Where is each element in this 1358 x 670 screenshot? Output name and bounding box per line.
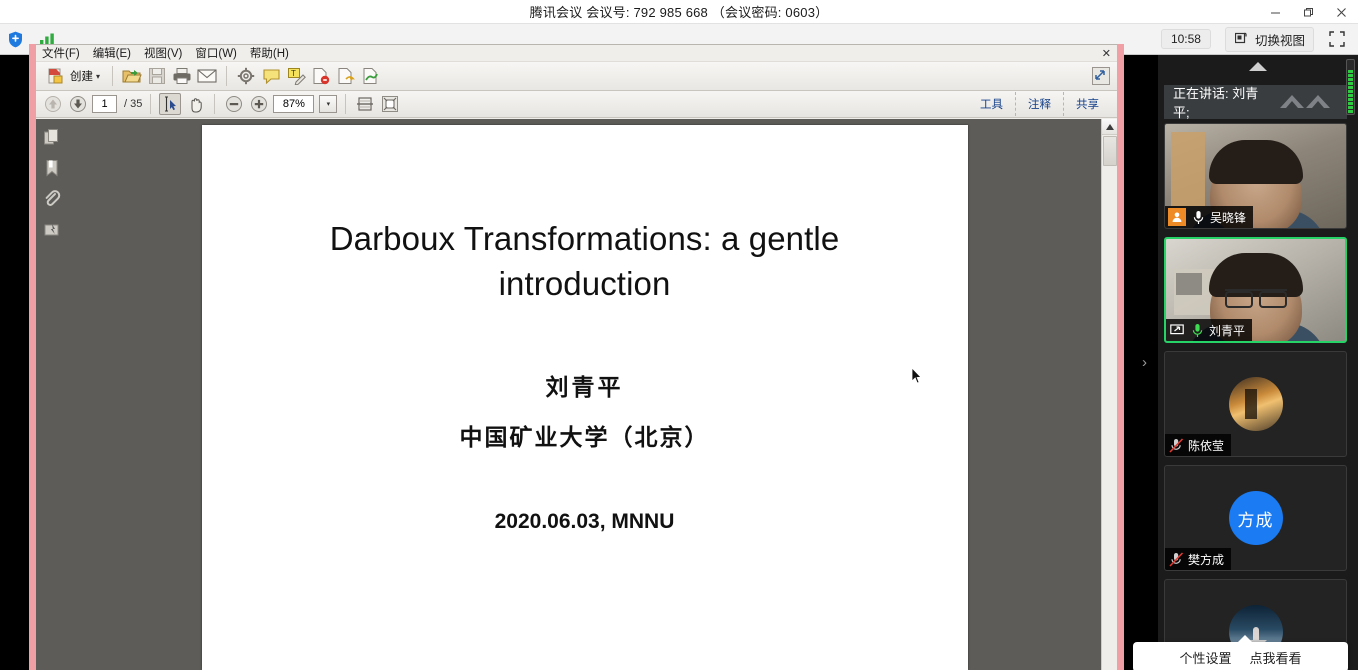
email-icon[interactable] (196, 65, 218, 87)
chevron-down-icon: ▾ (327, 100, 331, 108)
tab-tools[interactable]: 工具 (968, 92, 1015, 116)
active-speaker-label: 正在讲话: 刘青平; (1173, 85, 1270, 119)
select-text-icon[interactable] (159, 93, 181, 115)
toolbar-separator (112, 66, 113, 86)
svg-text:T: T (291, 69, 296, 78)
reader-toolbar-main: 创建 ▾ (36, 62, 1117, 91)
active-speaker-banner: 正在讲话: 刘青平; (1164, 85, 1347, 119)
screen-root: 腾讯会议 会议号: 792 985 668 （会议密码: 0603） (0, 0, 1358, 670)
highlight-text-icon[interactable]: T (285, 65, 307, 87)
scroll-up-icon[interactable] (1102, 119, 1117, 135)
switch-view-label: 切换视图 (1255, 30, 1305, 49)
window-controls (1259, 0, 1358, 24)
sign-document-icon[interactable] (360, 65, 382, 87)
toolbar-separator (150, 94, 151, 114)
comment-bubble-icon[interactable] (260, 65, 282, 87)
participant-tile[interactable]: 刘青平 (1164, 237, 1347, 343)
participants-panel: › 正在讲话: 刘青平; (1158, 55, 1358, 670)
video-background (1171, 132, 1205, 206)
slide-author: 刘青平 (202, 368, 968, 402)
mic-on-icon (1190, 209, 1206, 225)
delete-page-icon[interactable] (310, 65, 332, 87)
slide-title: Darboux Transformations: a gentle introd… (202, 217, 968, 306)
meeting-clock: 10:58 (1161, 29, 1211, 49)
arrow-up-page-icon[interactable] (42, 93, 64, 115)
layout-switch-icon (1234, 31, 1250, 47)
scrollbar-thumb[interactable] (1103, 136, 1117, 166)
menu-view[interactable]: 视图(V) (144, 45, 182, 61)
reader-menubar: 文件(F) 编辑(E) 视图(V) 窗口(W) 帮助(H) ✕ (36, 45, 1117, 62)
participant-name: 刘青平 (1209, 322, 1245, 339)
chevron-right-icon: › (1142, 354, 1147, 371)
create-pdf-icon (45, 65, 67, 87)
shield-icon[interactable] (2, 27, 28, 51)
page-thumbnails-icon[interactable] (41, 126, 63, 148)
toolbar-separator (214, 94, 215, 114)
close-button[interactable] (1325, 0, 1358, 24)
panel-collapse-button[interactable]: › (1131, 55, 1158, 670)
mic-off-icon (1168, 551, 1184, 567)
fit-width-icon[interactable] (354, 93, 376, 115)
participant-tile[interactable]: 方成 樊方成 (1164, 465, 1347, 571)
video-background-object (1176, 273, 1202, 295)
switch-view-button[interactable]: 切换视图 (1225, 27, 1314, 52)
participant-nameplate: 樊方成 (1165, 548, 1231, 570)
tooltip-title: 个性设置 (1179, 648, 1231, 667)
personalization-tooltip[interactable]: 个性设置 点我看看 (1133, 642, 1348, 670)
mic-off-icon (1168, 437, 1184, 453)
tab-share[interactable]: 共享 (1063, 92, 1111, 116)
screen-share-icon (1169, 322, 1185, 338)
meeting-title: 腾讯会议 会议号: 792 985 668 （会议密码: 0603） (530, 2, 829, 21)
hand-pan-icon[interactable] (184, 93, 206, 115)
signatures-icon[interactable] (41, 219, 63, 241)
pdf-vertical-scrollbar[interactable] (1101, 119, 1117, 670)
host-badge-icon (1168, 208, 1186, 226)
menu-help[interactable]: 帮助(H) (250, 45, 289, 61)
avatar-initials: 方成 (1229, 491, 1283, 545)
zoom-out-icon[interactable] (223, 93, 245, 115)
participant-tile[interactable]: 陈依莹 (1164, 351, 1347, 457)
chevron-down-icon: ▾ (96, 72, 100, 81)
meeting-titlebar: 腾讯会议 会议号: 792 985 668 （会议密码: 0603） (0, 0, 1358, 24)
minimize-button[interactable] (1259, 0, 1292, 24)
toolbar-separator (226, 66, 227, 86)
bookmarks-icon[interactable] (41, 157, 63, 179)
toolbar-separator (345, 94, 346, 114)
attachments-icon[interactable] (41, 188, 63, 210)
reader-toolbar-navigation: / 35 (36, 91, 1117, 118)
screen-share-frame-left (29, 44, 36, 670)
participant-tiles: 吴晓锋 (1158, 77, 1358, 662)
open-folder-icon[interactable] (121, 65, 143, 87)
page-total-label: / 35 (124, 98, 142, 110)
zoom-level-input[interactable] (273, 95, 314, 113)
page-number-input[interactable] (92, 95, 117, 113)
participant-nameplate: 刘青平 (1166, 319, 1252, 341)
pdf-page: Darboux Transformations: a gentle introd… (202, 125, 968, 670)
slide-date: 2020.06.03, MNNU (202, 510, 968, 534)
tooltip-action[interactable]: 点我看看 (1250, 648, 1302, 667)
create-pdf-button[interactable]: 创建 ▾ (41, 64, 104, 88)
tencent-meeting-logo-icon (1276, 90, 1338, 114)
create-pdf-label: 创建 (70, 68, 93, 84)
menu-edit[interactable]: 编辑(E) (93, 45, 131, 61)
expand-window-icon[interactable] (1090, 65, 1112, 87)
participant-name: 樊方成 (1188, 551, 1224, 568)
participant-nameplate: 陈依莹 (1165, 434, 1231, 456)
video-hair (1209, 140, 1303, 184)
fullscreen-icon[interactable] (1328, 30, 1346, 48)
avatar (1229, 377, 1283, 431)
audio-level-meter (1346, 59, 1355, 115)
participant-name: 吴晓锋 (1210, 209, 1246, 226)
reader-right-tabs: 工具 注释 共享 (968, 91, 1111, 118)
menu-file[interactable]: 文件(F) (42, 45, 80, 61)
restore-button[interactable] (1292, 0, 1325, 24)
document-close-icon[interactable]: ✕ (1102, 47, 1111, 60)
export-page-icon[interactable] (335, 65, 357, 87)
reader-navigation-rail (36, 119, 68, 670)
mic-on-icon (1189, 322, 1205, 338)
save-icon[interactable] (146, 65, 168, 87)
tab-comment[interactable]: 注释 (1015, 92, 1063, 116)
participant-name: 陈依莹 (1188, 437, 1224, 454)
slide-affiliation: 中国矿业大学（北京） (202, 418, 968, 452)
meeting-toolbar-right: 10:58 切换视图 (1161, 27, 1358, 52)
participants-scroll-up[interactable] (1158, 55, 1358, 77)
participant-nameplate: 吴晓锋 (1165, 206, 1253, 228)
mouse-cursor (911, 367, 923, 385)
triangle-up-icon (1249, 62, 1267, 71)
pdf-reader-window: 文件(F) 编辑(E) 视图(V) 窗口(W) 帮助(H) ✕ 创建 ▾ (36, 44, 1117, 670)
arrow-down-page-icon[interactable] (67, 93, 89, 115)
fit-page-icon[interactable] (379, 93, 401, 115)
menu-window[interactable]: 窗口(W) (195, 45, 237, 61)
participant-tile[interactable]: 吴晓锋 (1164, 123, 1347, 229)
zoom-dropdown-button[interactable]: ▾ (319, 95, 337, 113)
zoom-in-icon[interactable] (248, 93, 270, 115)
video-glasses (1225, 289, 1287, 303)
settings-gear-icon[interactable] (235, 65, 257, 87)
screen-share-frame-right (1117, 44, 1124, 670)
print-icon[interactable] (171, 65, 193, 87)
pdf-page-viewport[interactable]: Darboux Transformations: a gentle introd… (68, 119, 1101, 670)
reader-body: Darboux Transformations: a gentle introd… (36, 119, 1117, 670)
